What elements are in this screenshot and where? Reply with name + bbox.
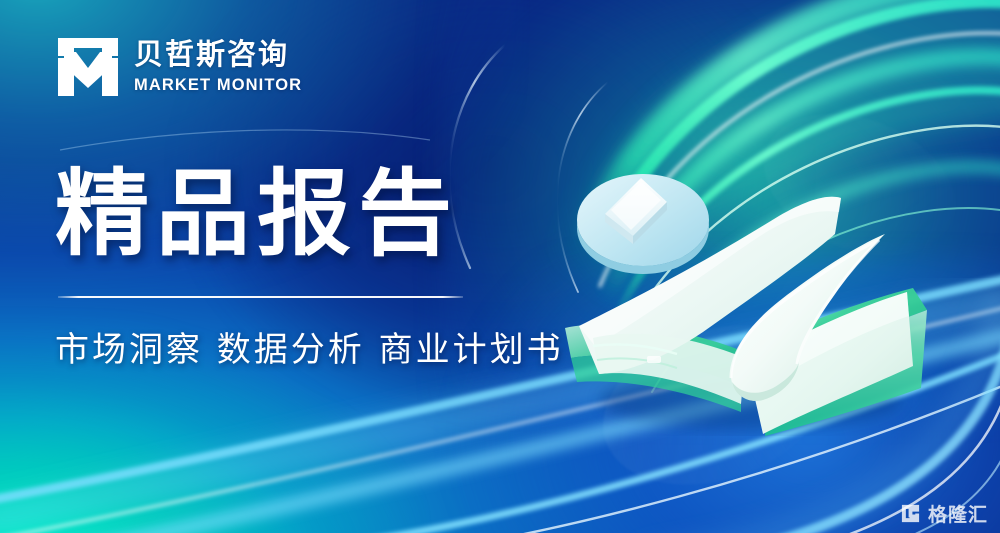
watermark: 格隆汇 <box>900 500 988 527</box>
report-cover-banner: 贝哲斯咨询 MARKET MONITOR 精品报告 市场洞察 数据分析 商业计划… <box>0 0 1000 533</box>
brand-name-en: MARKET MONITOR <box>134 76 302 95</box>
brand-name-cn: 贝哲斯咨询 <box>134 39 302 71</box>
market-monitor-m-mark-icon <box>56 36 120 98</box>
brand-logo: 贝哲斯咨询 MARKET MONITOR <box>56 36 302 98</box>
hero-text-block: 精品报告 市场洞察 数据分析 商业计划书 <box>55 168 575 371</box>
open-book-illustration <box>535 150 955 440</box>
pie-chart-disc <box>577 174 709 274</box>
title-divider <box>58 296 463 298</box>
hero-subtitle: 市场洞察 数据分析 商业计划书 <box>55 322 575 371</box>
watermark-text: 格隆汇 <box>928 500 988 527</box>
brand-logo-text: 贝哲斯咨询 MARKET MONITOR <box>134 39 302 94</box>
page-title: 精品报告 <box>55 168 575 262</box>
gelonghui-g-logo-icon <box>900 503 921 524</box>
